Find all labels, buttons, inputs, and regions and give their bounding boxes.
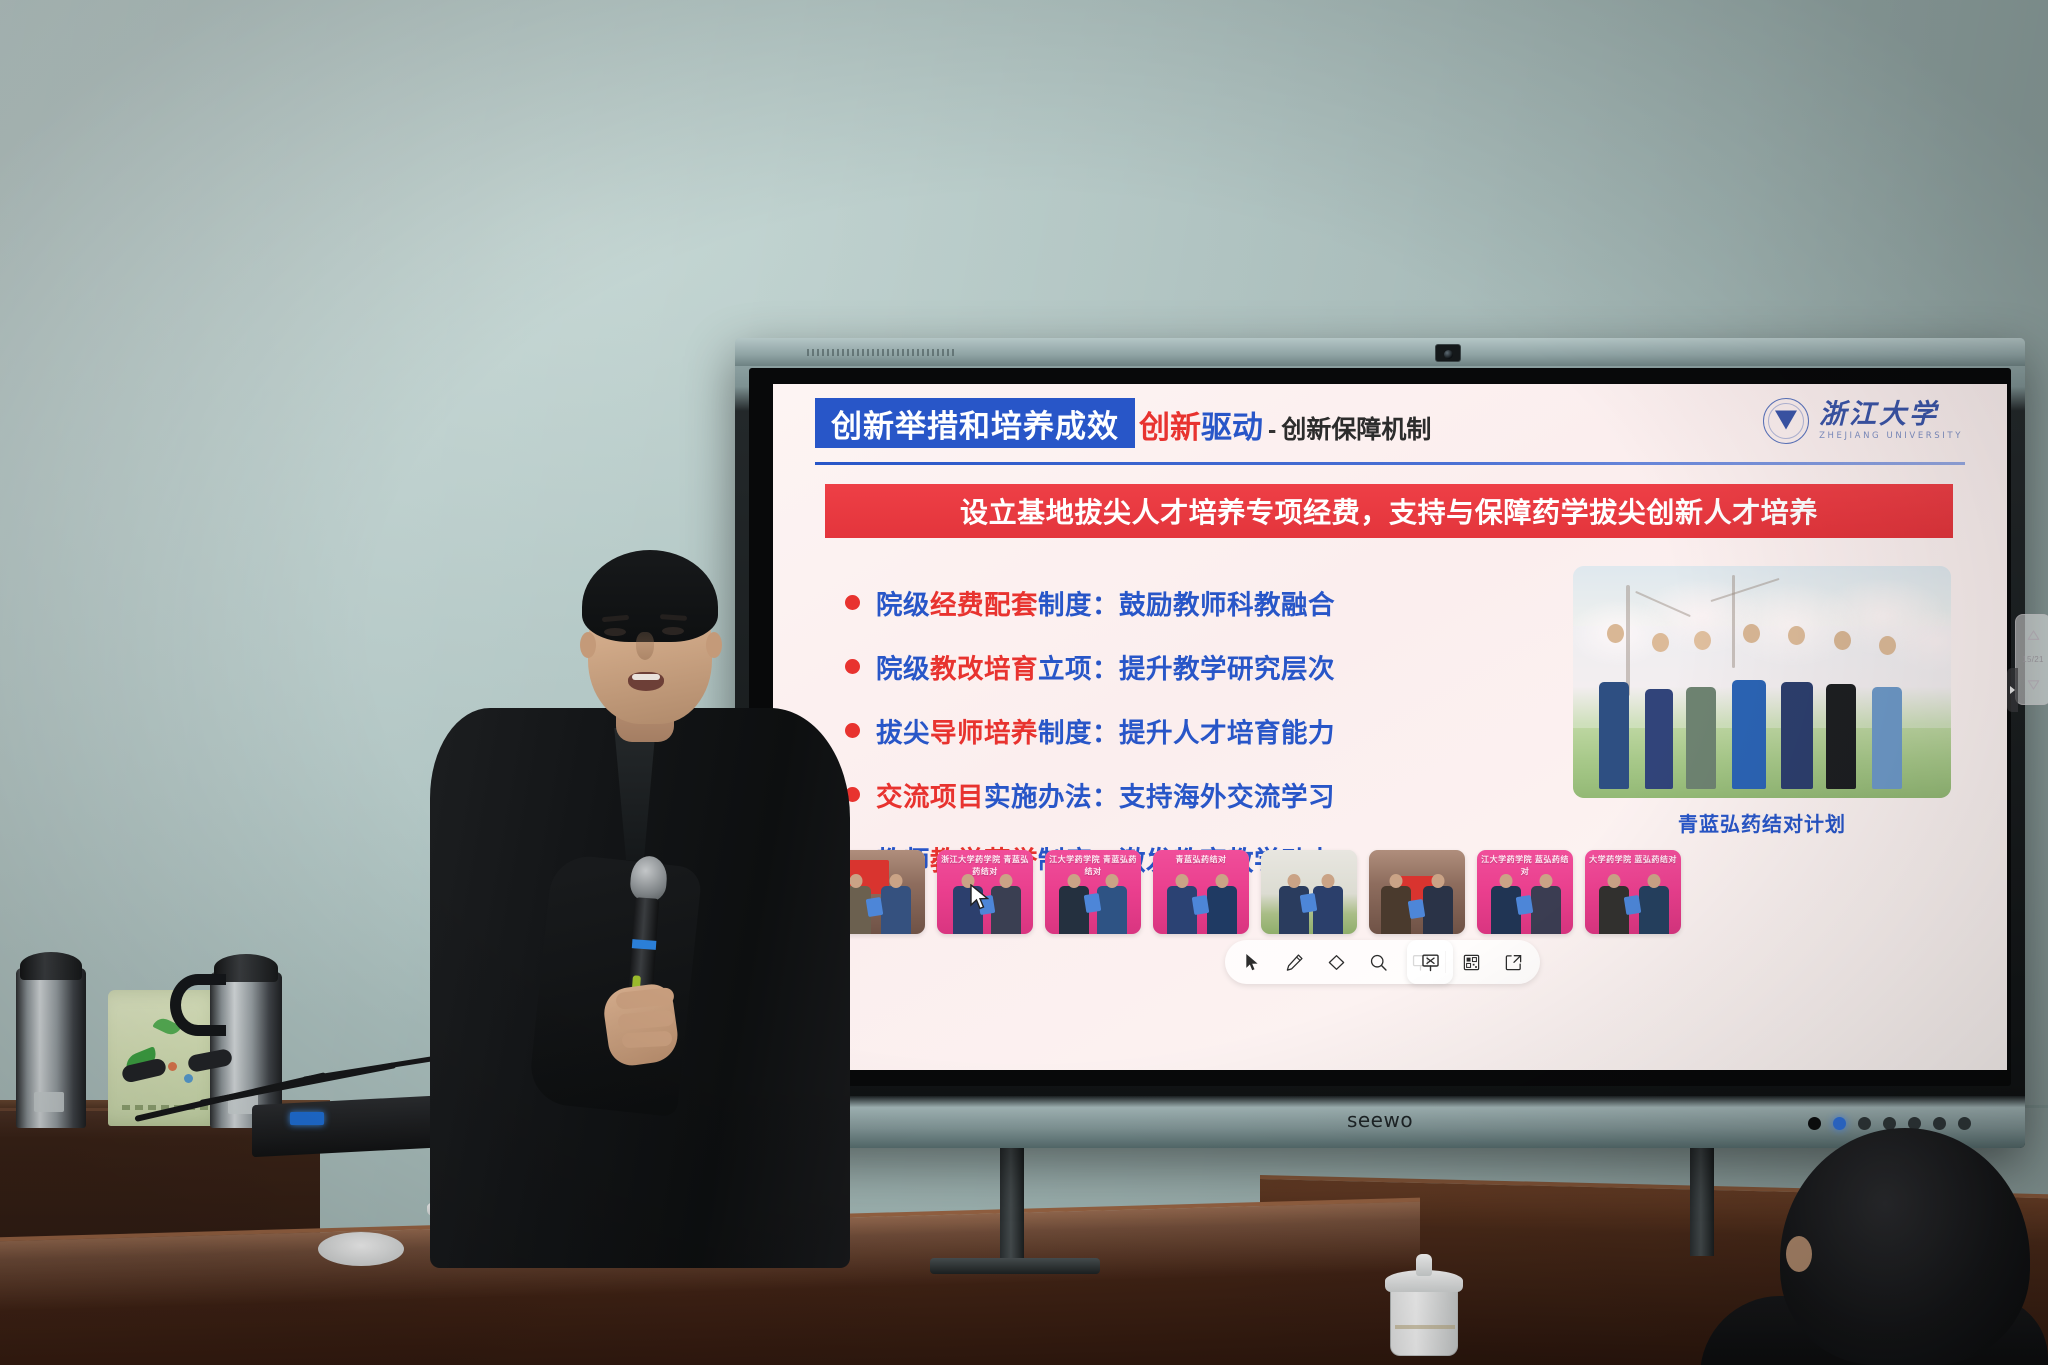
page-indicator: 15/21 xyxy=(2022,655,2044,664)
main-group-photo xyxy=(1573,566,1951,798)
slide-section-chip: 创新举措和培养成效 xyxy=(815,398,1135,448)
bullet-text: 院级经费配套制度：鼓励教师科教融合 xyxy=(876,583,1335,622)
display-brand-label: seewo xyxy=(1347,1108,1413,1132)
bullet-prefix: 院级 xyxy=(876,654,930,684)
teacup-band xyxy=(1395,1325,1455,1329)
presenter-eye xyxy=(662,627,684,635)
teacup-knob-right xyxy=(1416,1254,1432,1276)
photo-person xyxy=(1599,682,1629,789)
bullet-text: 交流项目实施办法：支持海外交流学习 xyxy=(876,775,1335,814)
thumbnail-person xyxy=(1207,886,1237,934)
thumbnail-person xyxy=(1167,886,1197,934)
bullet-highlight: 交流项目 xyxy=(876,782,984,812)
display-bottom-bezel: seewo xyxy=(735,1096,2025,1148)
bullet-text: 院级教改培育立项：提升教学研究层次 xyxy=(876,647,1335,686)
bullet-list: 院级经费配套制度：鼓励教师科教融合 院级教改培育立项：提升教学研究层次 拔尖导师… xyxy=(845,570,1485,890)
thumbnail-banner-text: 大学药学院 蓝弘药结对 xyxy=(1585,854,1681,866)
thumbnail-banner-text: 江大学药学院 青蓝弘药结对 xyxy=(1045,854,1141,878)
pen-icon[interactable] xyxy=(1273,944,1315,980)
speaker-grille-icon xyxy=(807,349,957,356)
display-button[interactable] xyxy=(1833,1117,1846,1130)
thumbnail-document xyxy=(1624,895,1642,915)
thumbnail-person xyxy=(881,886,911,934)
display-chassis: 创新举措和培养成效 创新 驱动 - 创新保障机制 浙江大学 xyxy=(735,338,2025,1148)
list-item[interactable]: 江大学药学院 蓝弘药结对 xyxy=(1477,850,1573,934)
slide-section-label: 创新举措和培养成效 xyxy=(831,401,1119,446)
screen-cursor-icon xyxy=(969,884,991,910)
thumbnail-person xyxy=(1097,886,1127,934)
display-top-bezel xyxy=(735,338,2025,366)
subtitle-dash: - xyxy=(1268,416,1276,445)
display-stand-column xyxy=(1000,1146,1024,1274)
bullet-prefix: 院级 xyxy=(876,590,930,620)
logo-en: ZHEJIANG UNIVERSITY xyxy=(1819,432,1963,441)
photo-person-head xyxy=(1607,624,1624,643)
photo-person xyxy=(1686,687,1716,789)
thumbnail-person xyxy=(1491,886,1521,934)
photo-person-head xyxy=(1694,631,1711,650)
presenter-ear xyxy=(706,632,722,658)
presentation-slide[interactable]: 创新举措和培养成效 创新 驱动 - 创新保障机制 浙江大学 xyxy=(773,384,2007,1070)
thumbnail-person xyxy=(1423,886,1453,934)
logo-text: 浙江大学 ZHEJIANG UNIVERSITY xyxy=(1819,401,1963,441)
subtitle-tail: 创新保障机制 xyxy=(1281,410,1431,446)
thumbnail-person xyxy=(1599,886,1629,934)
bullet-text: 拔尖导师培养制度：提升人才培育能力 xyxy=(876,711,1335,750)
thermos-cap-left xyxy=(20,952,82,980)
tree-trunk xyxy=(1732,575,1735,668)
presenter-finger xyxy=(622,1031,673,1049)
photo-person xyxy=(1826,684,1856,788)
presenter-nose xyxy=(636,632,654,660)
photo-person xyxy=(1781,682,1813,789)
display-button[interactable] xyxy=(1933,1117,1946,1130)
thumbnail-person xyxy=(1313,886,1343,934)
thumbnail-person xyxy=(991,886,1021,934)
thumbnail-person xyxy=(1531,886,1561,934)
thumbnail-banner-text: 江大学药学院 蓝弘药结对 xyxy=(1477,854,1573,878)
logo-cn: 浙江大学 xyxy=(1819,401,1963,428)
bullet-highlight: 经费配套 xyxy=(930,590,1038,620)
flask-label xyxy=(34,1092,64,1112)
bullet-middle: 制度： xyxy=(1038,718,1119,748)
bullet-highlight: 教改培育 xyxy=(930,654,1038,684)
subtitle-red-part: 创新 xyxy=(1139,402,1201,447)
thumbnail-document xyxy=(1192,895,1210,915)
bullet-suffix: 提升人才培育能力 xyxy=(1119,718,1335,748)
microphone-led xyxy=(290,1112,324,1125)
audience-ear xyxy=(1786,1236,1812,1272)
photo-person xyxy=(1732,680,1766,789)
thumbnail-document xyxy=(1084,893,1102,913)
list-item[interactable] xyxy=(1369,850,1465,934)
tree-trunk xyxy=(1626,585,1630,696)
presentation-toolbar[interactable] xyxy=(1225,940,1540,984)
display-screen-bezel: 创新举措和培养成效 创新 驱动 - 创新保障机制 浙江大学 xyxy=(749,368,2011,1086)
list-item: 拔尖导师培养制度：提升人才培育能力 xyxy=(845,698,1485,762)
banner-text: 设立基地拔尖人才培养专项经费，支持与保障药学拔尖创新人才培养 xyxy=(960,491,1818,531)
presenter-ear xyxy=(580,632,596,658)
side-panel-collapse-handle[interactable] xyxy=(2007,668,2018,712)
thumbnail-document xyxy=(1516,895,1534,915)
teacup-right xyxy=(1390,1286,1458,1356)
bullet-middle: 实施办法： xyxy=(984,782,1119,812)
slide-subtitle: 创新 驱动 - 创新保障机制 xyxy=(1139,402,1431,447)
microphone-grille xyxy=(629,855,668,903)
interactive-flat-panel-display[interactable]: 创新举措和培养成效 创新 驱动 - 创新保障机制 浙江大学 xyxy=(735,338,2025,1148)
list-item[interactable]: 青蓝弘药结对 xyxy=(1153,850,1249,934)
photo-person-head xyxy=(1834,631,1851,650)
thumbnail-person xyxy=(1059,886,1089,934)
slide-page-nav[interactable]: 15/21 xyxy=(2015,614,2048,705)
tea-dot xyxy=(168,1062,177,1071)
share-icon[interactable] xyxy=(1492,944,1534,980)
thermos-flask-left xyxy=(16,968,86,1128)
page-down-button[interactable] xyxy=(2020,671,2046,697)
tea-dot xyxy=(184,1074,193,1083)
photo-caption: 青蓝弘药结对计划 xyxy=(1573,808,1951,837)
thumbnail-banner-text: 青蓝弘药结对 xyxy=(1153,854,1249,866)
slide-highlight-banner: 设立基地拔尖人才培养专项经费，支持与保障药学拔尖创新人才培养 xyxy=(825,484,1953,538)
thumbnail-person xyxy=(1381,886,1411,934)
bullet-suffix: 鼓励教师科教融合 xyxy=(1119,590,1335,620)
thumbnail-banner-text: 浙江大学药学院 青蓝弘药结对 xyxy=(937,854,1033,878)
bullet-middle: 立项： xyxy=(1038,654,1119,684)
photo-person xyxy=(1645,689,1673,789)
subtitle-blue-part: 驱动 xyxy=(1201,402,1263,447)
eraser-icon[interactable] xyxy=(1315,944,1357,980)
list-item: 院级经费配套制度：鼓励教师科教融合 xyxy=(845,570,1485,634)
bullet-highlight: 导师培养 xyxy=(930,718,1038,748)
bullet-suffix: 提升教学研究层次 xyxy=(1119,654,1335,684)
presenter-arm xyxy=(527,853,702,1117)
thumbnail-strip[interactable]: 浙江大学药学院 青蓝弘药结对 江大学药学院 青蓝弘药结对 xyxy=(829,850,1957,940)
saucer xyxy=(318,1232,404,1266)
page-up-button[interactable] xyxy=(2020,622,2046,648)
thumbnail-document xyxy=(1408,899,1426,919)
magnifier-icon[interactable] xyxy=(1357,944,1399,980)
display-stand-foot xyxy=(930,1258,1100,1274)
thermos-handle xyxy=(170,974,226,1036)
exit-presentation-icon[interactable] xyxy=(1407,940,1453,984)
list-item[interactable] xyxy=(1261,850,1357,934)
bullet-prefix: 拔尖 xyxy=(876,718,930,748)
zju-eagle-icon xyxy=(1775,411,1797,430)
display-button[interactable] xyxy=(1858,1117,1871,1130)
presenter-mouth xyxy=(628,672,664,691)
presenter xyxy=(430,560,850,1260)
microphone-indicator-band xyxy=(632,939,657,950)
thumbnail-document xyxy=(866,897,884,917)
thumbnail-person xyxy=(1639,886,1669,934)
university-logo: 浙江大学 ZHEJIANG UNIVERSITY xyxy=(1763,398,1963,444)
photo-person-head xyxy=(1743,624,1760,643)
power-button[interactable] xyxy=(1808,1117,1821,1130)
slide-header: 创新举措和培养成效 创新 驱动 - 创新保障机制 浙江大学 xyxy=(773,384,2007,470)
zju-seal-icon xyxy=(1763,398,1809,444)
display-button[interactable] xyxy=(1958,1117,1971,1130)
photo-person-head xyxy=(1879,636,1896,655)
display-stand-column xyxy=(1690,1146,1714,1256)
camera-icon xyxy=(1435,344,1461,362)
bullet-middle: 制度： xyxy=(1038,590,1119,620)
microphone-base xyxy=(252,1095,452,1157)
presenter-eye xyxy=(604,628,626,636)
list-item: 交流项目实施办法：支持海外交流学习 xyxy=(845,762,1485,826)
list-item: 院级教改培育立项：提升教学研究层次 xyxy=(845,634,1485,698)
thumbnail-document xyxy=(1300,893,1318,913)
presenter-hair xyxy=(582,550,718,642)
qr-code-icon[interactable] xyxy=(1450,944,1492,980)
bullet-suffix: 支持海外交流学习 xyxy=(1119,782,1335,812)
header-divider xyxy=(815,462,1965,465)
cursor-icon[interactable] xyxy=(1231,944,1273,980)
photo-person xyxy=(1872,687,1902,789)
list-item[interactable]: 江大学药学院 青蓝弘药结对 xyxy=(1045,850,1141,934)
list-item[interactable]: 大学药学院 蓝弘药结对 xyxy=(1585,850,1681,934)
